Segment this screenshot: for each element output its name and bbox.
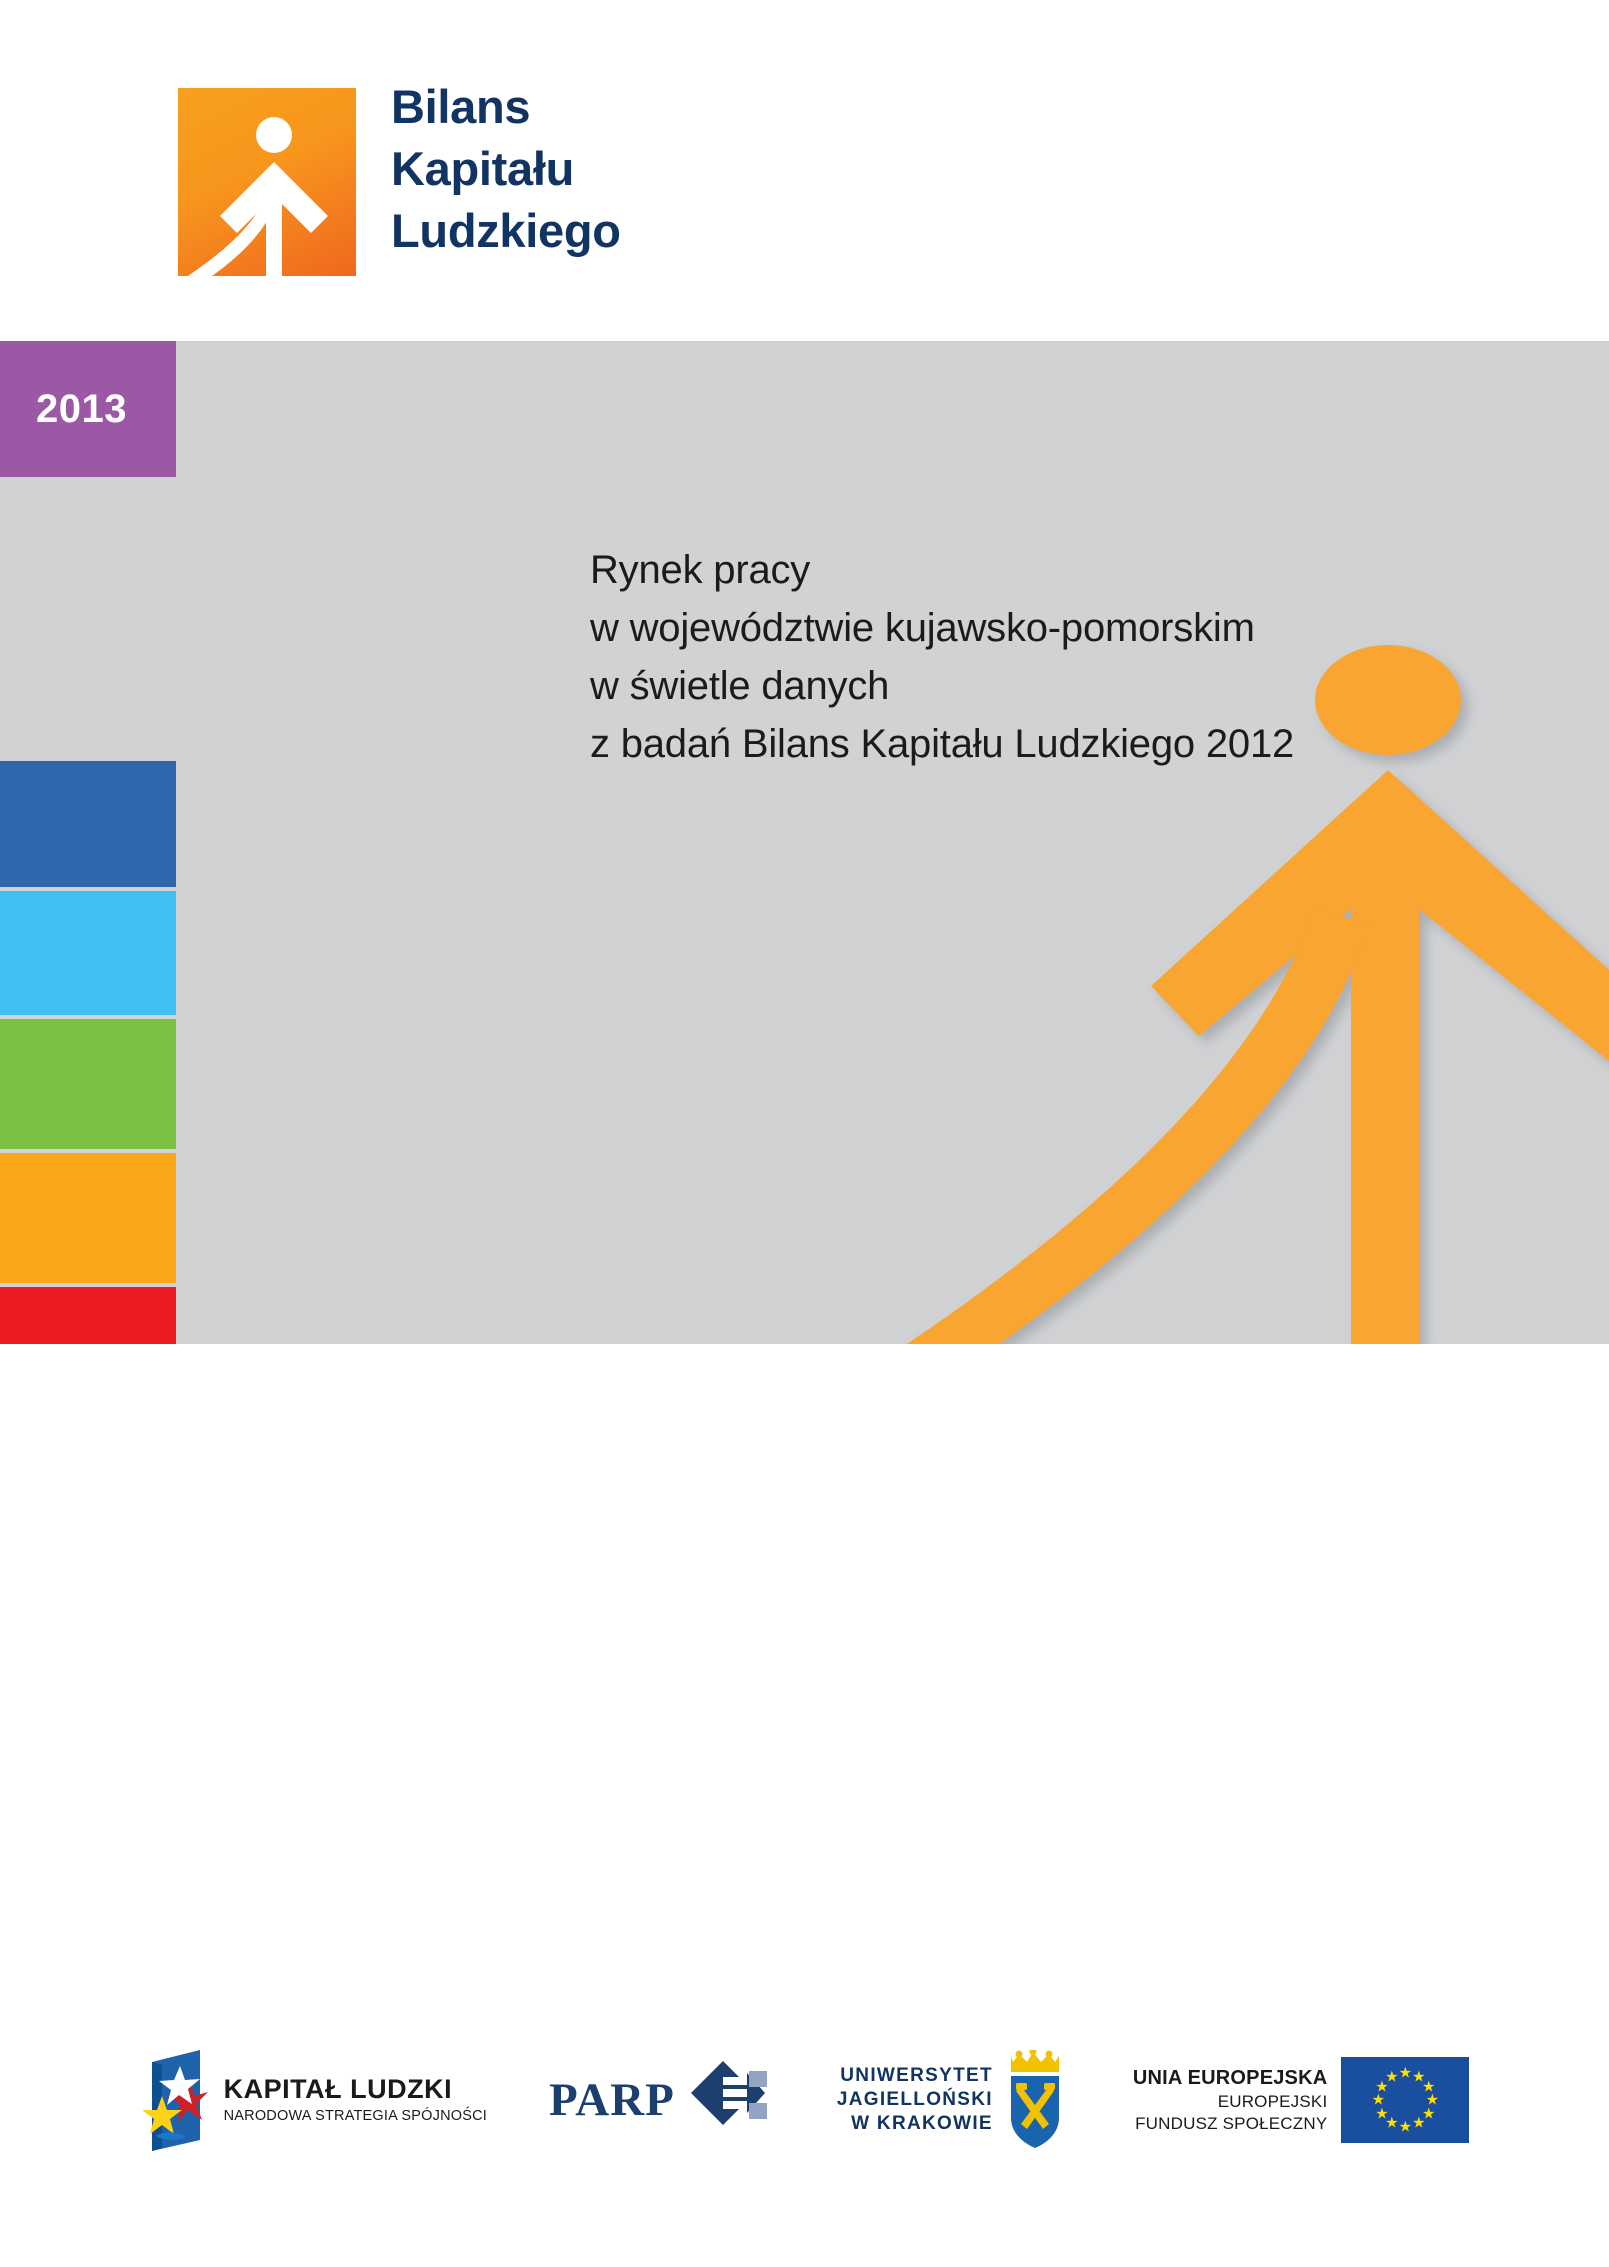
uj-line-1: UNIWERSYTET (837, 2064, 993, 2088)
eu-star-icon: ★ (1399, 2066, 1412, 2081)
footer-logo-bar: KAPITAŁ LUDZKI NARODOWA STRATEGIA SPÓJNO… (0, 2030, 1609, 2170)
uj-crest-icon (1007, 2050, 1071, 2150)
grid-tile (358, 1153, 531, 1283)
page-title: Rynek pracy w województwie kujawsko-pomo… (590, 541, 1294, 773)
title-line-2: w województwie kujawsko-pomorskim (590, 599, 1294, 657)
logo-uniwersytet-jagiellonski: UNIWERSYTET JAGIELLOŃSKI W KRAKOWIE (837, 2050, 1071, 2150)
logo-parp: PARP (549, 2059, 775, 2141)
eu-star-icon: ★ (1385, 2069, 1398, 2084)
kapital-ludzki-stars-icon (140, 2048, 210, 2153)
year-badge-tile: 2013 (0, 341, 176, 477)
parp-wordmark: PARP (549, 2077, 675, 2124)
logo-unia-europejska: UNIA EUROPEJSKA EUROPEJSKI FUNDUSZ SPOŁE… (1133, 2057, 1470, 2143)
grid-tile (358, 1287, 531, 1344)
grid-tile (358, 341, 531, 477)
brand-header: Bilans Kapitału Ludzkiego (178, 88, 878, 208)
title-line-4: z badań Bilans Kapitału Ludzkiego 2012 (590, 715, 1294, 773)
title-line-3: w świetle danych (590, 657, 1294, 715)
title-line-1: Rynek pracy (590, 541, 1294, 599)
kapital-ludzki-title: KAPITAŁ LUDZKI (224, 2075, 487, 2105)
parp-diamond-icon (689, 2059, 775, 2141)
uj-line-3: W KRAKOWIE (837, 2112, 993, 2136)
grid-tile (0, 481, 176, 617)
eu-line-3: FUNDUSZ SPOŁECZNY (1135, 2113, 1327, 2134)
color-tile-red (0, 1287, 176, 1344)
grid-tile (180, 761, 531, 887)
grid-tile (180, 1153, 354, 1283)
brand-line-1: Bilans (391, 76, 621, 138)
bilans-kapitalu-ludzkiego-logo-mark (178, 88, 356, 276)
year-badge-label: 2013 (36, 387, 127, 432)
grid-tile (180, 1019, 531, 1149)
brand-line-3: Ludzkiego (391, 200, 621, 262)
eu-flag-icon: ★★★★★★★★★★★★ (1341, 2057, 1469, 2143)
uj-line-2: JAGIELLOŃSKI (837, 2088, 993, 2112)
color-tile-green (0, 1019, 176, 1149)
walking-person-arrow-icon (178, 88, 356, 276)
grid-tile (180, 621, 354, 757)
logo-kapital-ludzki: KAPITAŁ LUDZKI NARODOWA STRATEGIA SPÓJNO… (140, 2048, 487, 2153)
grid-tile (180, 341, 354, 477)
grid-tile (0, 621, 176, 757)
brand-wordmark: Bilans Kapitału Ludzkiego (391, 76, 621, 262)
grid-tile (358, 481, 531, 617)
cover-panel: 2013 (0, 341, 1609, 1344)
color-tile-orange (0, 1153, 176, 1283)
eu-star-icon: ★ (1399, 2120, 1412, 2135)
kapital-ludzki-subtitle: NARODOWA STRATEGIA SPÓJNOŚCI (224, 2108, 487, 2125)
eu-line-2: EUROPEJSKI (1218, 2091, 1328, 2112)
eu-line-1: UNIA EUROPEJSKA (1133, 2066, 1328, 2091)
color-tile-light-blue (0, 891, 176, 1015)
color-tile-dark-blue (0, 761, 176, 887)
tile-grid: 2013 (0, 341, 531, 1344)
grid-tile (358, 621, 531, 757)
brand-line-2: Kapitału (391, 138, 621, 200)
grid-tile (180, 1287, 354, 1344)
grid-tile (180, 481, 354, 617)
grid-tile (180, 891, 531, 1015)
eu-star-icon: ★ (1412, 2116, 1425, 2131)
